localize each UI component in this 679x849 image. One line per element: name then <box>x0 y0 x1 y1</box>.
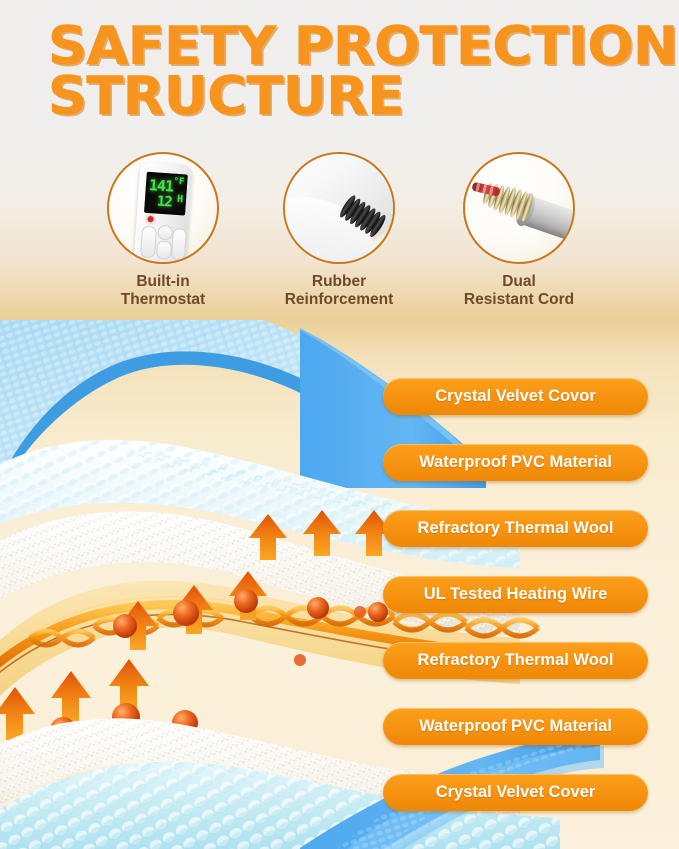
feature-built-in-thermostat: 141 °F 12 H Built-in Thermostat <box>68 152 258 309</box>
feature-label-dual-resistant-cord: Dual Resistant Cord <box>424 273 614 309</box>
infographic-page: SAFETY PROTECTION STRUCTURE 141 °F 12 H … <box>0 0 679 849</box>
cord-cutaway-icon <box>463 160 575 263</box>
feature-label-built-in-thermostat: Built-in Thermostat <box>68 273 258 309</box>
controller-icon: 141 °F 12 H <box>134 161 193 264</box>
layer-label-crystal-velvet-cover-bottom[interactable]: Crystal Velvet Cover <box>383 774 648 811</box>
power-button <box>157 225 173 241</box>
layer-label-ul-tested-heating-wire[interactable]: UL Tested Heating Wire <box>383 576 648 613</box>
thermostat-icon-circle: 141 °F 12 H <box>107 152 219 264</box>
feature-label-line-2: Reinforcement <box>285 291 394 308</box>
feature-dual-resistant-cord: Dual Resistant Cord <box>424 152 614 309</box>
feature-label-line-1: Built-in <box>136 273 189 290</box>
feature-label-line-2: Thermostat <box>121 291 205 308</box>
feature-label-rubber-reinforcement: Rubber Reinforcement <box>244 273 434 309</box>
layer-label-waterproof-pvc-top[interactable]: Waterproof PVC Material <box>383 444 648 481</box>
feature-label-line-1: Dual <box>502 273 536 290</box>
feature-label-line-2: Resistant Cord <box>464 291 574 308</box>
layer-label-crystal-velvet-cover-top[interactable]: Crystal Velvet Covor <box>383 378 648 415</box>
layer-label-waterproof-pvc-bottom[interactable]: Waterproof PVC Material <box>383 708 648 745</box>
power-indicator-light <box>147 216 153 222</box>
page-title-line-1: SAFETY PROTECTION <box>48 22 660 72</box>
feature-rubber-reinforcement: Rubber Reinforcement <box>244 152 434 309</box>
feature-label-line-1: Rubber <box>312 273 366 290</box>
page-title-line-2: STRUCTURE <box>48 72 660 122</box>
lcd-timer-value: 12 <box>156 194 172 211</box>
cord-icon-circle <box>463 152 575 264</box>
layer-label-refractory-thermal-wool-top[interactable]: Refractory Thermal Wool <box>383 510 648 547</box>
page-title: SAFETY PROTECTION STRUCTURE <box>48 22 648 122</box>
lcd-timer-unit: H <box>177 194 184 205</box>
rubber-icon-circle <box>283 152 395 264</box>
layer-label-refractory-thermal-wool-bottom[interactable]: Refractory Thermal Wool <box>383 642 648 679</box>
lcd-temperature-unit: °F <box>173 177 185 188</box>
timer-stepper-button <box>171 228 187 261</box>
mode-button <box>156 241 172 260</box>
lcd-display: 141 °F 12 H <box>144 172 188 216</box>
lcd-temperature-value: 141 <box>148 176 173 196</box>
temperature-stepper-button <box>140 226 157 259</box>
